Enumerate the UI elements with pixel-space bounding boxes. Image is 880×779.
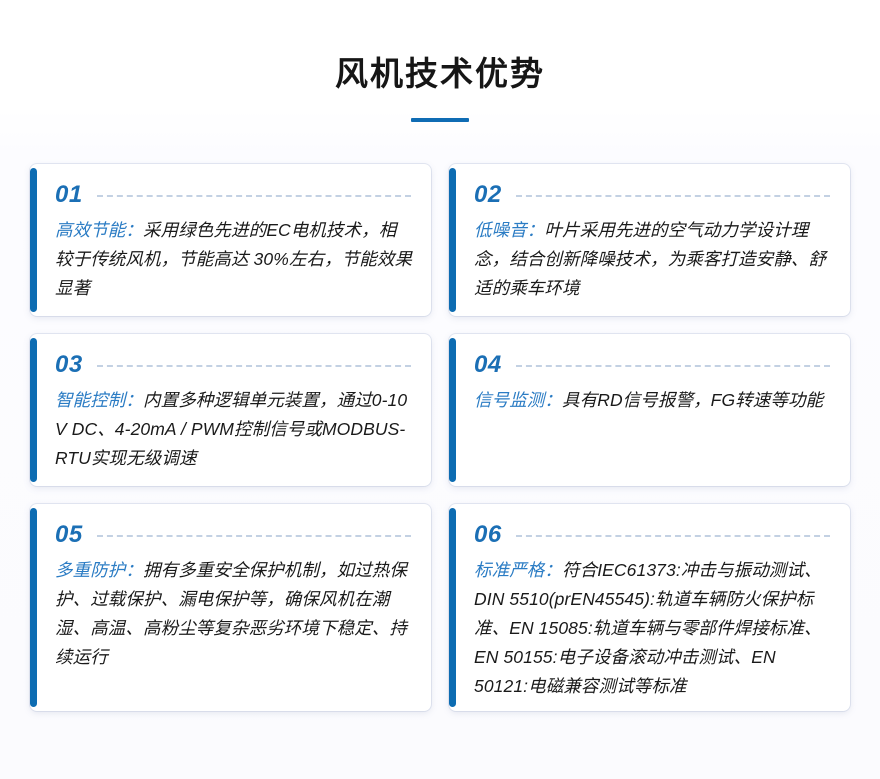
advantage-card-03[interactable]: 03 智能控制：内置多种逻辑单元装置，通过0-10 V DC、4-20mA / … <box>30 334 431 486</box>
advantage-card-05[interactable]: 05 多重防护：拥有多重安全保护机制，如过热保护、过载保护、漏电保护等，确保风机… <box>30 504 431 711</box>
card-dashed-divider <box>97 365 411 367</box>
card-number: 05 <box>55 520 83 550</box>
card-label: 低噪音： <box>474 220 544 240</box>
card-dashed-divider <box>97 535 411 537</box>
card-number: 03 <box>55 350 83 380</box>
card-body: 高效节能：采用绿色先进的EC电机技术，相较于传统风机，节能高达 30%左右，节能… <box>55 216 413 303</box>
card-label: 标准严格： <box>474 560 562 580</box>
card-accent-bar <box>449 168 456 312</box>
card-label: 多重防护： <box>55 560 143 580</box>
card-header: 03 <box>55 350 413 380</box>
advantage-card-04[interactable]: 04 信号监测：具有RD信号报警，FG转速等功能 <box>449 334 850 486</box>
advantage-card-06[interactable]: 06 标准严格：符合IEC61373:冲击与振动测试、DIN 5510(prEN… <box>449 504 850 711</box>
card-accent-bar <box>30 338 37 482</box>
card-body: 智能控制：内置多种逻辑单元装置，通过0-10 V DC、4-20mA / PWM… <box>55 386 413 473</box>
card-body: 信号监测：具有RD信号报警，FG转速等功能 <box>474 386 832 415</box>
card-dashed-divider <box>97 195 411 197</box>
card-header: 06 <box>474 520 832 550</box>
card-dashed-divider <box>516 365 830 367</box>
page-header: 风机技术优势 <box>0 0 880 122</box>
card-accent-bar <box>30 508 37 707</box>
advantage-card-grid: 01 高效节能：采用绿色先进的EC电机技术，相较于传统风机，节能高达 30%左右… <box>0 164 880 711</box>
card-number: 01 <box>55 180 83 210</box>
page-root: 风机技术优势 01 高效节能：采用绿色先进的EC电机技术，相较于传统风机，节能高… <box>0 0 880 779</box>
card-text: 符合IEC61373:冲击与振动测试、DIN 5510(prEN45545):轨… <box>474 560 822 696</box>
page-title: 风机技术优势 <box>0 52 880 96</box>
advantage-card-02[interactable]: 02 低噪音：叶片采用先进的空气动力学设计理念，结合创新降噪技术，为乘客打造安静… <box>449 164 850 316</box>
card-accent-bar <box>449 338 456 482</box>
card-number: 04 <box>474 350 502 380</box>
card-label: 信号监测： <box>474 390 562 410</box>
card-dashed-divider <box>516 195 830 197</box>
card-header: 04 <box>474 350 832 380</box>
title-underline-bar <box>411 118 469 122</box>
card-text: 具有RD信号报警，FG转速等功能 <box>562 390 823 410</box>
advantage-card-01[interactable]: 01 高效节能：采用绿色先进的EC电机技术，相较于传统风机，节能高达 30%左右… <box>30 164 431 316</box>
card-number: 02 <box>474 180 502 210</box>
card-body: 标准严格：符合IEC61373:冲击与振动测试、DIN 5510(prEN455… <box>474 556 832 701</box>
card-label: 高效节能： <box>55 220 143 240</box>
card-header: 01 <box>55 180 413 210</box>
card-accent-bar <box>30 168 37 312</box>
card-accent-bar <box>449 508 456 707</box>
card-body: 低噪音：叶片采用先进的空气动力学设计理念，结合创新降噪技术，为乘客打造安静、舒适… <box>474 216 832 303</box>
card-number: 06 <box>474 520 502 550</box>
card-body: 多重防护：拥有多重安全保护机制，如过热保护、过载保护、漏电保护等，确保风机在潮湿… <box>55 556 413 672</box>
card-header: 05 <box>55 520 413 550</box>
card-label: 智能控制： <box>55 390 143 410</box>
card-header: 02 <box>474 180 832 210</box>
card-dashed-divider <box>516 535 830 537</box>
